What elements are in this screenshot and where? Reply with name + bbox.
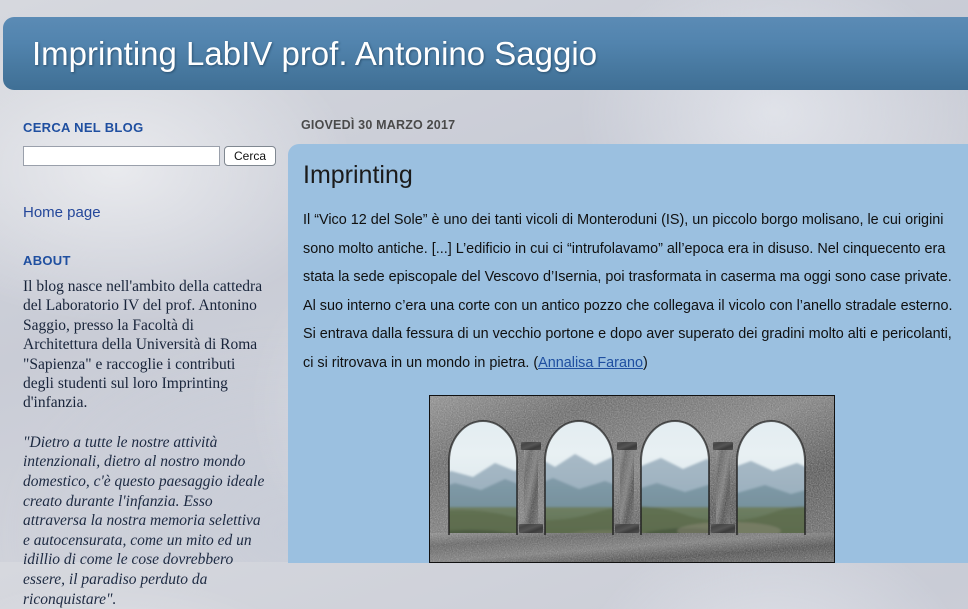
post-date: GIOVEDÌ 30 MARZO 2017 bbox=[301, 118, 968, 132]
about-text: Il blog nasce nell'ambito della cattedra… bbox=[23, 277, 267, 413]
post-title: Imprinting bbox=[303, 161, 953, 190]
site-header-bar: Imprinting LabIV prof. Antonino Saggio bbox=[3, 17, 968, 90]
about-quote-text: "Dietro a tutte le nostre attività inten… bbox=[23, 433, 271, 609]
post-body: Il “Vico 12 del Sole” è uno dei tanti vi… bbox=[303, 206, 953, 378]
site-title: Imprinting LabIV prof. Antonino Saggio bbox=[32, 35, 597, 73]
about-section-heading: ABOUT bbox=[23, 253, 273, 268]
search-input[interactable] bbox=[23, 146, 220, 166]
post-body-text-2: ) bbox=[643, 355, 648, 371]
search-button[interactable]: Cerca bbox=[224, 146, 276, 166]
home-page-link[interactable]: Home page bbox=[23, 204, 101, 221]
post-image bbox=[429, 395, 835, 563]
search-section-heading: CERCA NEL BLOG bbox=[23, 120, 273, 135]
sidebar: CERCA NEL BLOG Cerca Home page ABOUT Il … bbox=[23, 120, 273, 609]
search-form: Cerca bbox=[23, 146, 276, 166]
main-content: GIOVEDÌ 30 MARZO 2017 Imprinting Il “Vic… bbox=[288, 118, 968, 563]
post-body-text-1: Il “Vico 12 del Sole” è uno dei tanti vi… bbox=[303, 212, 953, 371]
arches-photo-graphic bbox=[429, 395, 835, 563]
post-author-link[interactable]: Annalisa Farano bbox=[538, 355, 643, 371]
post-container: Imprinting Il “Vico 12 del Sole” è uno d… bbox=[288, 144, 968, 563]
